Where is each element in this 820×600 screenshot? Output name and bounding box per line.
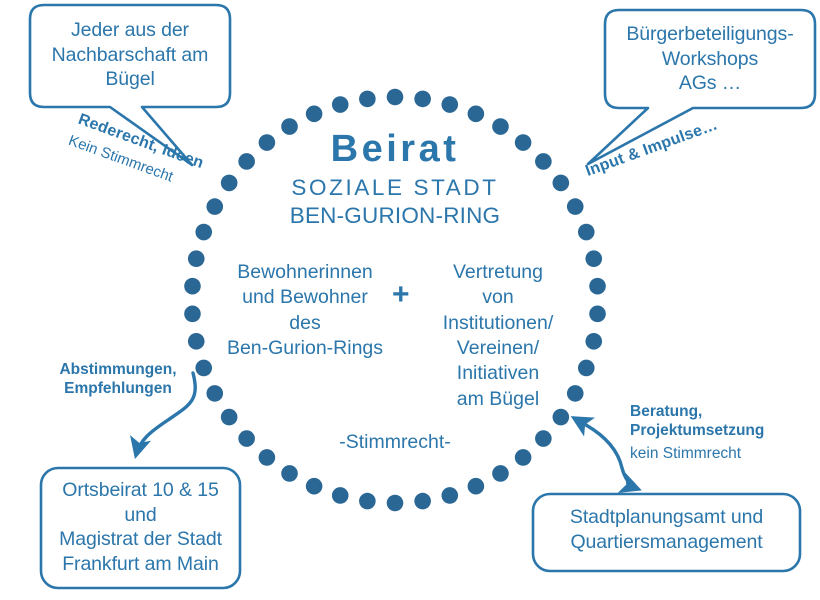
voting-right-note: -Stimmrecht-: [305, 430, 485, 455]
flow-label-kein-stimmrecht-bottom: kein Stimmrecht: [630, 444, 780, 463]
ring-dot: [578, 360, 595, 377]
ring-dot: [359, 493, 376, 510]
ring-dot: [184, 278, 201, 295]
ring-dot: [238, 430, 255, 447]
ring-dot: [414, 493, 431, 510]
page-title: Beirat: [255, 130, 535, 168]
ring-dot: [492, 465, 509, 482]
ring-dot: [553, 175, 570, 192]
ring-dot: [206, 385, 223, 402]
ring-dot: [468, 106, 485, 123]
ring-dot: [206, 198, 223, 215]
ring-dot: [221, 175, 238, 192]
ring-dot: [359, 91, 376, 108]
plus-icon: +: [392, 280, 410, 310]
diagram-canvas: Jeder aus der Nachbarschaft am Bügel Bür…: [0, 0, 820, 600]
callout-bottom-left-label: Ortsbeirat 10 & 15 und Magistrat der Sta…: [42, 478, 239, 576]
ring-dot: [238, 153, 255, 170]
ring-dot: [259, 449, 276, 466]
flow-label-abstimmungen: Abstimmungen, Empfehlungen: [48, 360, 188, 399]
ring-dot: [585, 333, 602, 350]
callout-top-right-label: Bürgerbeteiligungs- Workshops AGs …: [608, 22, 812, 96]
ring-dot: [387, 89, 404, 106]
callout-top-left-label: Jeder aus der Nachbarschaft am Bügel: [36, 18, 224, 92]
ring-dot: [387, 495, 404, 512]
ring-dot: [188, 333, 205, 350]
ring-dot: [589, 278, 606, 295]
members-institutions: Vertretung von Institutionen/ Vereinen/ …: [418, 260, 578, 412]
ring-dot: [195, 224, 212, 241]
ring-dot: [515, 449, 532, 466]
ring-dot: [414, 91, 431, 108]
ring-dot: [332, 487, 349, 504]
flow-label-beratung: Beratung, Projektumsetzung: [630, 402, 780, 441]
ring-dot: [221, 409, 238, 426]
ring-dot: [567, 198, 584, 215]
ring-dot: [281, 465, 298, 482]
ring-dot: [535, 430, 552, 447]
page-subtitle-2: BEN-GURION-RING: [255, 205, 535, 228]
ring-dot: [441, 96, 458, 113]
ring-dot: [306, 106, 323, 123]
ring-dot: [441, 487, 458, 504]
ring-dot: [468, 478, 485, 495]
ring-dot: [306, 478, 323, 495]
ring-dot: [184, 306, 201, 323]
members-residents: Bewohnerinnen und Bewohner des Ben-Gurio…: [215, 260, 395, 361]
ring-dot: [332, 96, 349, 113]
ring-dot: [188, 250, 205, 267]
ring-dot: [589, 306, 606, 323]
ring-dot: [578, 224, 595, 241]
callout-bottom-right-label: Stadtplanungsamt und Quartiersmanagement: [535, 505, 798, 554]
ring-dot: [195, 360, 212, 377]
ring-dot: [585, 250, 602, 267]
ring-dot: [535, 153, 552, 170]
page-subtitle-1: SOZIALE STADT: [255, 177, 535, 200]
